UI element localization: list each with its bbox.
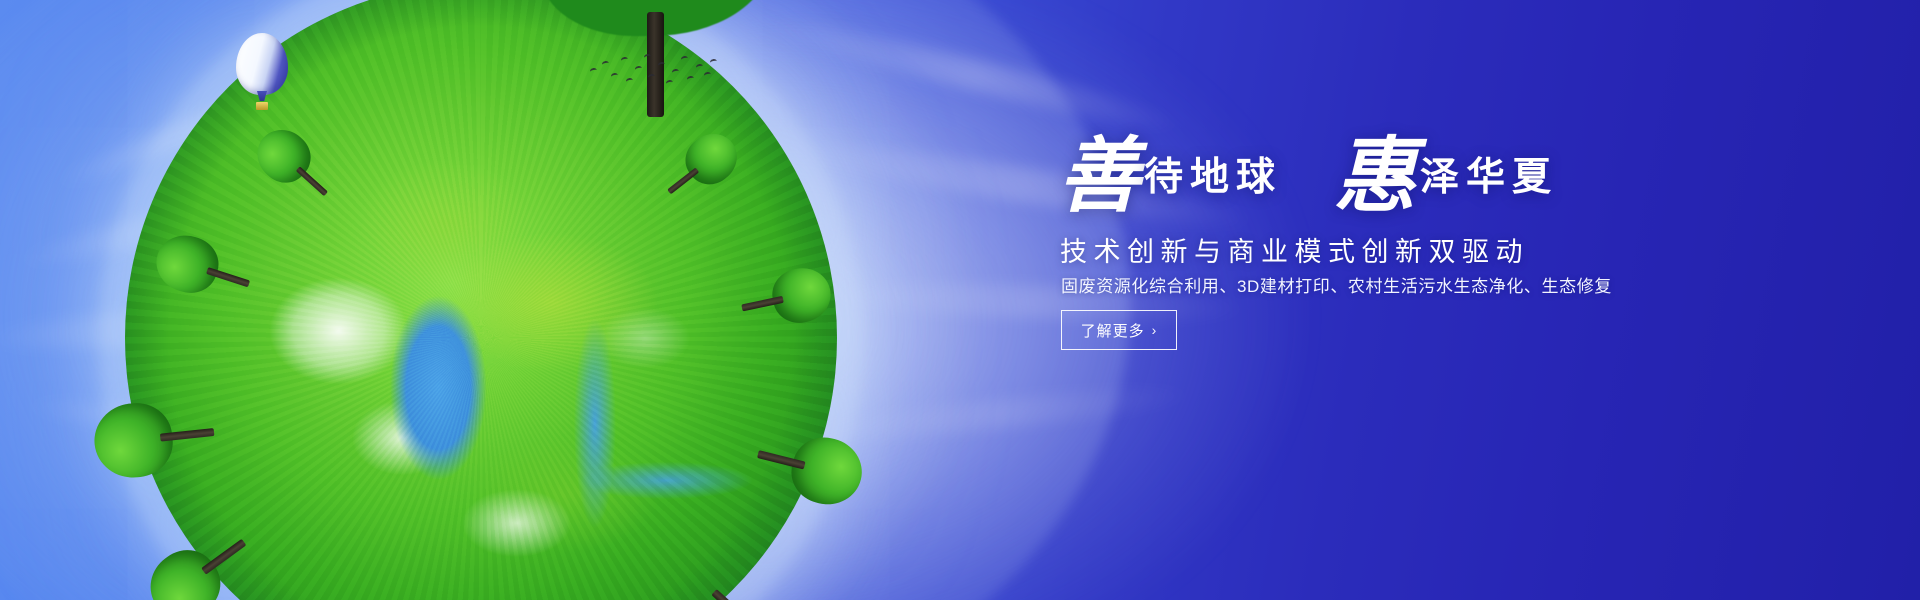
hero-subtitle: 技术创新与商业模式创新双驱动 bbox=[1060, 230, 1529, 269]
rim-tree bbox=[149, 228, 258, 311]
learn-more-button[interactable]: 了解更多 › bbox=[1061, 310, 1177, 350]
rim-tree bbox=[247, 119, 343, 212]
headline-char-shan: 善 bbox=[1058, 131, 1140, 222]
headline-word-zehuaxia: 泽华夏 bbox=[1420, 156, 1558, 199]
planet-surface bbox=[125, 0, 837, 600]
tiny-planet-earth bbox=[125, 0, 837, 600]
page-title: 善待地球惠泽华夏 bbox=[1058, 136, 1558, 218]
cloud-wisp bbox=[13, 128, 527, 278]
cloud-haze-left bbox=[0, 0, 1130, 600]
learn-more-label: 了解更多 bbox=[1081, 320, 1145, 341]
balloon-neck bbox=[257, 91, 267, 101]
rim-tree bbox=[689, 565, 826, 600]
planet-atmosphere-glow bbox=[99, 0, 863, 600]
chevron-right-icon: › bbox=[1152, 323, 1158, 337]
balloon-basket bbox=[256, 102, 268, 110]
bird-flock bbox=[588, 52, 718, 88]
rim-tree bbox=[654, 124, 747, 211]
hero-copy: 善待地球惠泽华夏 技术创新与商业模式创新双驱动 固废资源化综合利用、3D建材打印… bbox=[1058, 0, 1758, 600]
headline-char-hui: 惠 bbox=[1334, 131, 1416, 222]
rim-tree bbox=[91, 395, 218, 481]
rim-tree bbox=[137, 515, 263, 600]
balloon-envelope bbox=[236, 33, 288, 95]
rim-tree bbox=[750, 422, 869, 512]
headline-word-daidiqiu: 待地球 bbox=[1144, 156, 1282, 199]
cloud-wisp bbox=[0, 281, 541, 360]
rim-tree bbox=[736, 263, 835, 335]
hero-description: 固废资源化综合利用、3D建材打印、农村生活污水生态净化、生态修复 bbox=[1061, 272, 1612, 297]
hero-banner: 善待地球惠泽华夏 技术创新与商业模式创新双驱动 固废资源化综合利用、3D建材打印… bbox=[0, 0, 1920, 600]
hero-tree-crown bbox=[541, 0, 771, 36]
hot-air-balloon bbox=[236, 33, 288, 113]
cloud-wisp bbox=[20, 389, 490, 476]
